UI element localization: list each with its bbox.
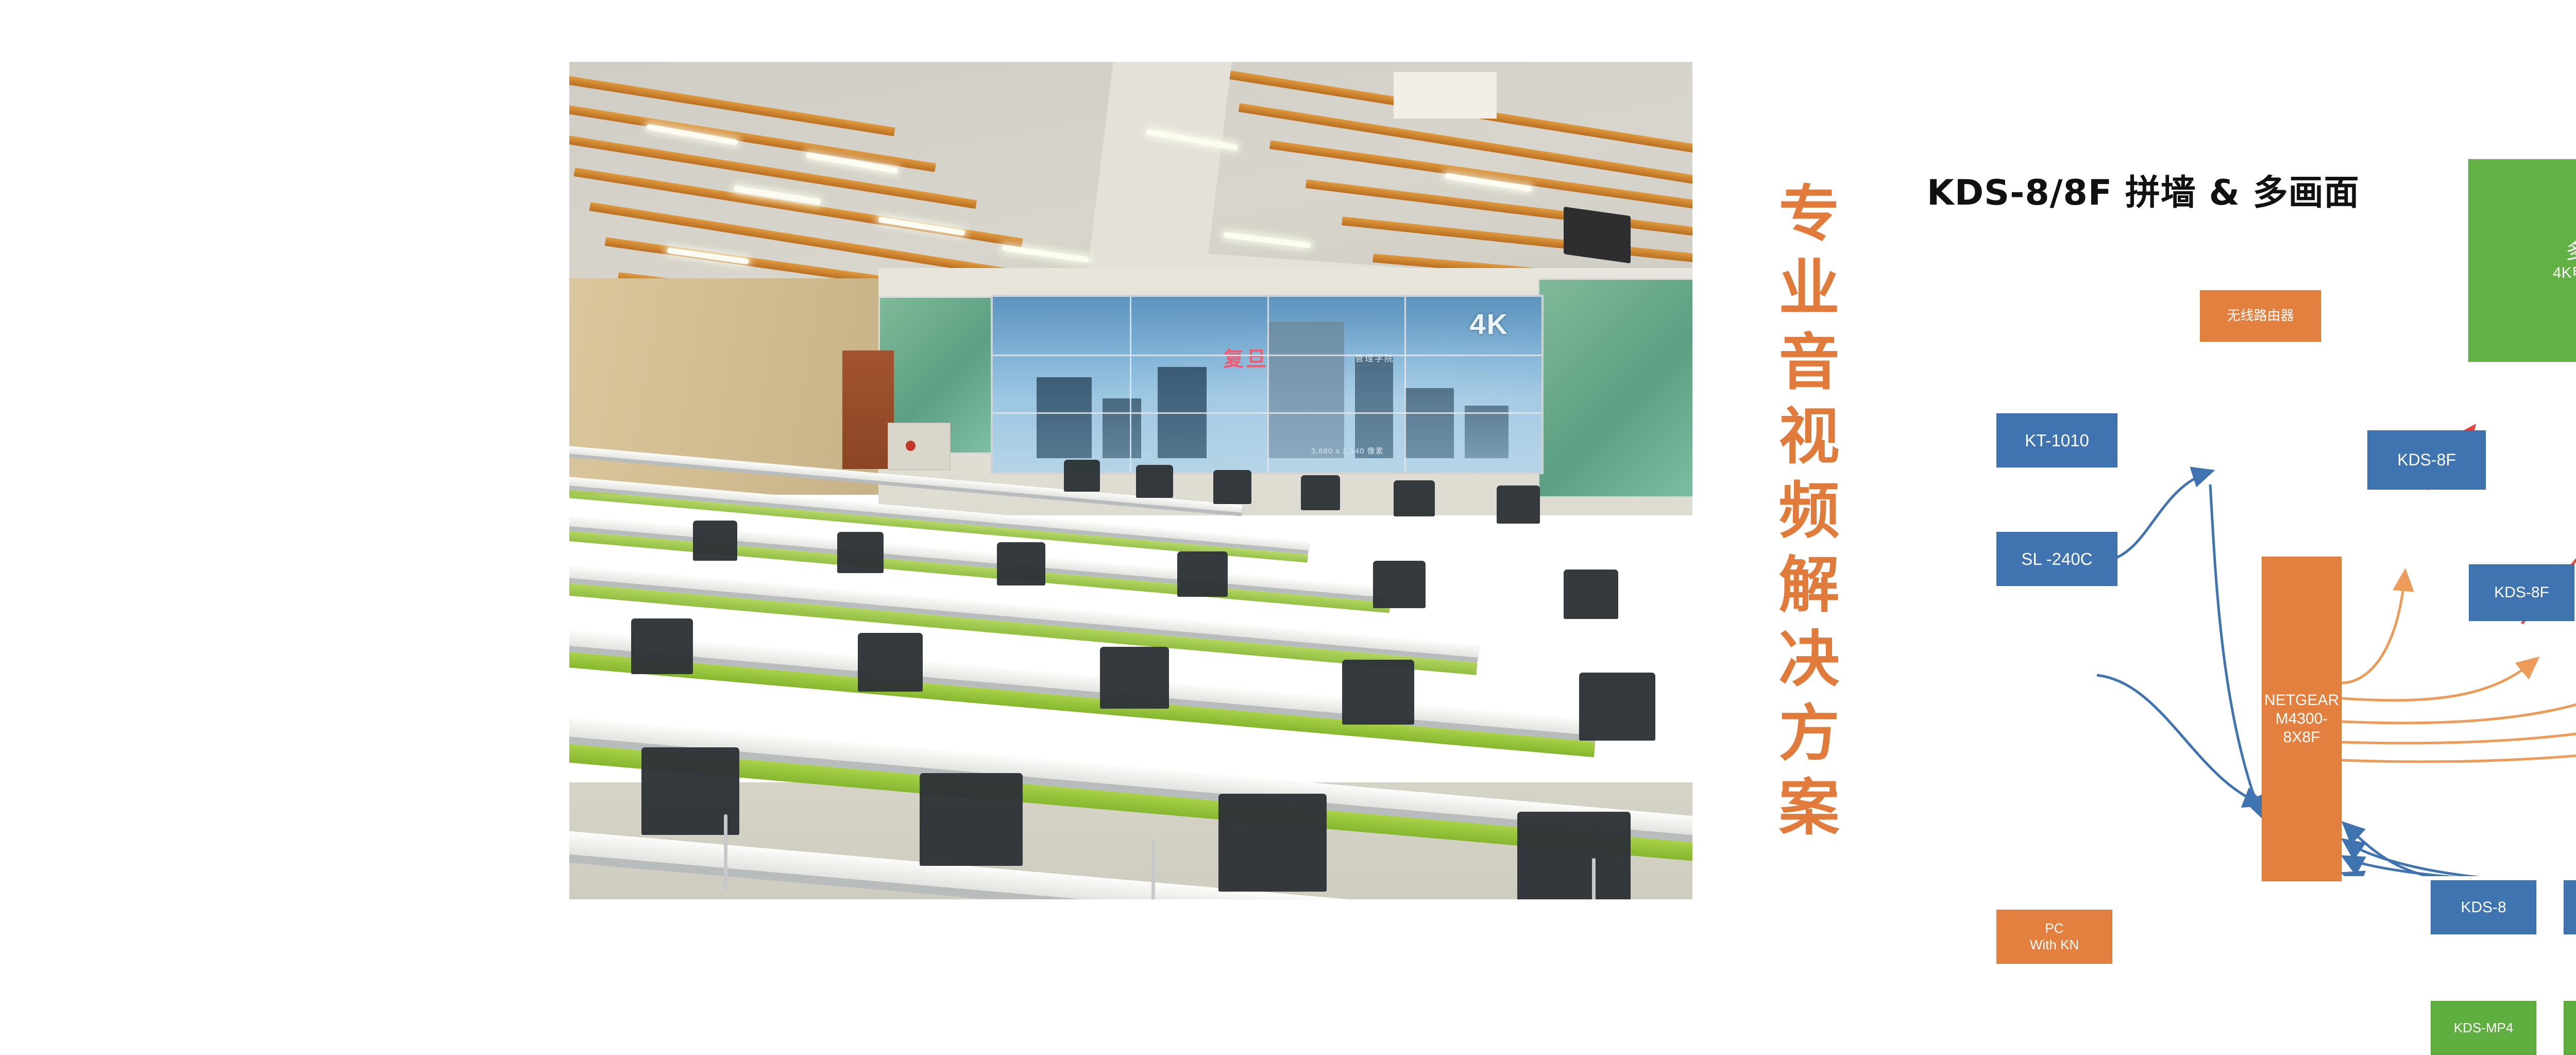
chair [1213, 470, 1251, 504]
door [842, 350, 894, 469]
kramer-860-source[interactable]: Kramer 860 [2564, 1001, 2576, 1055]
chair [1497, 485, 1540, 524]
video-wall-display: 4K 复旦 管理学院 3,680 x 2,140 像素 [991, 295, 1544, 474]
kds-8-encoder-2[interactable]: KDS-8 [2564, 880, 2576, 934]
video-wall-bezel [993, 412, 1541, 414]
lectern [888, 423, 951, 470]
multiview-display[interactable]: 多画面 4K电视机 - 1 [2468, 159, 2576, 362]
kds-8f-wall-1[interactable]: KDS-8F [2469, 564, 2574, 621]
kds-8f-multiview-label: KDS-8F [2397, 450, 2456, 470]
kt-1010-label: KT-1010 [2025, 430, 2089, 451]
skyline-tower [1037, 377, 1092, 458]
video-wall-bezel [1404, 297, 1406, 472]
desk-leg [724, 814, 727, 892]
video-wall-bezel [1130, 297, 1131, 472]
chair [1100, 647, 1169, 709]
system-diagram: KDS-8/8F 拼墙 & 多画面 [1906, 129, 2576, 876]
video-wall-spec-label: 3,680 x 2,140 像素 [1311, 445, 1384, 456]
wireless-router[interactable]: 无线路由器 [2200, 290, 2321, 342]
chair [1394, 480, 1435, 516]
kds-8-encoder-1-label: KDS-8 [2461, 898, 2506, 917]
netgear-switch-line1: NETGEAR [2264, 691, 2339, 710]
multiview-display-subtitle: 4K电视机 - 1 [2553, 264, 2576, 282]
kds-8-encoder-1[interactable]: KDS-8 [2431, 880, 2536, 934]
chair [997, 542, 1045, 585]
chair [858, 633, 923, 692]
skyline-tower [1355, 357, 1394, 458]
wireless-router-label: 无线路由器 [2227, 308, 2294, 324]
kds-8f-multiview[interactable]: KDS-8F [2367, 430, 2486, 490]
desk-leg [1151, 840, 1155, 899]
desk-leg [1592, 858, 1596, 899]
video-wall-bezel [1267, 297, 1269, 472]
chair [1564, 570, 1618, 619]
skyline-main-tower [1267, 322, 1344, 458]
netgear-switch-line2: M4300-8X8F [2262, 710, 2341, 747]
chair [1373, 561, 1426, 608]
video-wall-cn-label: 复旦 [1223, 342, 1268, 372]
green-window-panel [1538, 278, 1692, 498]
ceiling-speaker [1564, 207, 1631, 263]
ceiling-panel [1394, 72, 1497, 119]
netgear-switch[interactable]: NETGEAR M4300-8X8F [2262, 557, 2342, 881]
vertical-headline: 专业音视频解决方案 [1748, 181, 1835, 849]
kt-1010[interactable]: KT-1010 [1996, 413, 2117, 467]
classroom-photo: 4K 复旦 管理学院 3,680 x 2,140 像素 [569, 62, 1692, 899]
chair [920, 773, 1023, 866]
kds-mp4-source-label: KDS-MP4 [2454, 1020, 2514, 1036]
skyline-tower [1404, 388, 1454, 458]
pc-sublabel: With KN [2030, 937, 2079, 953]
kds-mp4-source[interactable]: KDS-MP4 [2431, 1001, 2536, 1055]
video-wall-cn-sub: 管理学院 [1355, 351, 1394, 364]
chair [1579, 673, 1655, 741]
chair [1342, 660, 1414, 725]
pc-label: PC [2045, 920, 2063, 936]
video-wall-bezel [993, 355, 1541, 356]
chair [1301, 475, 1340, 510]
chair [631, 618, 693, 674]
video-wall-4k-label: 4K [1470, 307, 1509, 341]
sl-240c-label: SL -240C [2021, 549, 2092, 570]
sl-240c[interactable]: SL -240C [1996, 532, 2117, 586]
chair [1136, 465, 1173, 498]
kds-8f-wall-1-label: KDS-8F [2494, 583, 2549, 602]
pc-with-kn[interactable]: PC With KN [1996, 910, 2112, 964]
chair [1177, 551, 1228, 597]
skyline-tower [1103, 398, 1141, 458]
chair [1517, 812, 1631, 899]
chair [1064, 460, 1100, 492]
multiview-display-title: 多画面 [2566, 239, 2576, 264]
chair [1218, 794, 1327, 892]
chair [693, 521, 737, 561]
chair [837, 532, 884, 573]
